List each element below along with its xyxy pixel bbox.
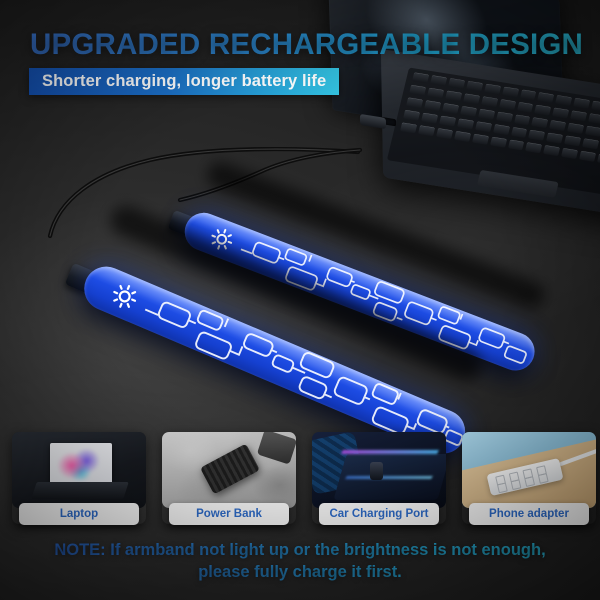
note-line-2: please fully charge it first.	[0, 562, 600, 584]
power-bank-photo	[162, 432, 296, 508]
card-label-text: Laptop	[60, 508, 98, 520]
page-title: UPGRADED RECHARGEABLE DESIGN	[30, 28, 583, 62]
charging-source-card-power-bank[interactable]: Power Bank	[162, 432, 296, 524]
card-label-phone-adapter: Phone adapter	[469, 503, 589, 525]
card-label-car-charging-port: Car Charging Port	[319, 503, 439, 525]
phone-adapter-photo	[462, 432, 596, 508]
product-marketing-image: UPGRADED RECHARGEABLE DESIGN Shorter cha…	[0, 0, 600, 600]
subtitle-banner: Shorter charging, longer battery life	[29, 68, 339, 95]
laptop-photo	[12, 432, 146, 508]
laptop-base	[381, 49, 600, 219]
charging-source-card-laptop[interactable]: Laptop	[12, 432, 146, 524]
card-label-power-bank: Power Bank	[169, 503, 289, 525]
car-charging-port-photo	[312, 432, 446, 508]
charging-sources-row: Laptop Power Bank	[0, 432, 600, 528]
charging-source-card-car-charging-port[interactable]: Car Charging Port	[312, 432, 446, 524]
card-label-laptop: Laptop	[19, 503, 139, 525]
note-text: NOTE: If armband not light up or the bri…	[0, 540, 600, 584]
charging-source-card-phone-adapter[interactable]: Phone adapter	[462, 432, 596, 524]
subtitle-text: Shorter charging, longer battery life	[42, 72, 326, 91]
card-label-text: Power Bank	[196, 508, 262, 520]
card-label-text: Car Charging Port	[329, 508, 428, 520]
note-line-1: NOTE: If armband not light up or the bri…	[0, 540, 600, 562]
card-label-text: Phone adapter	[489, 508, 569, 520]
